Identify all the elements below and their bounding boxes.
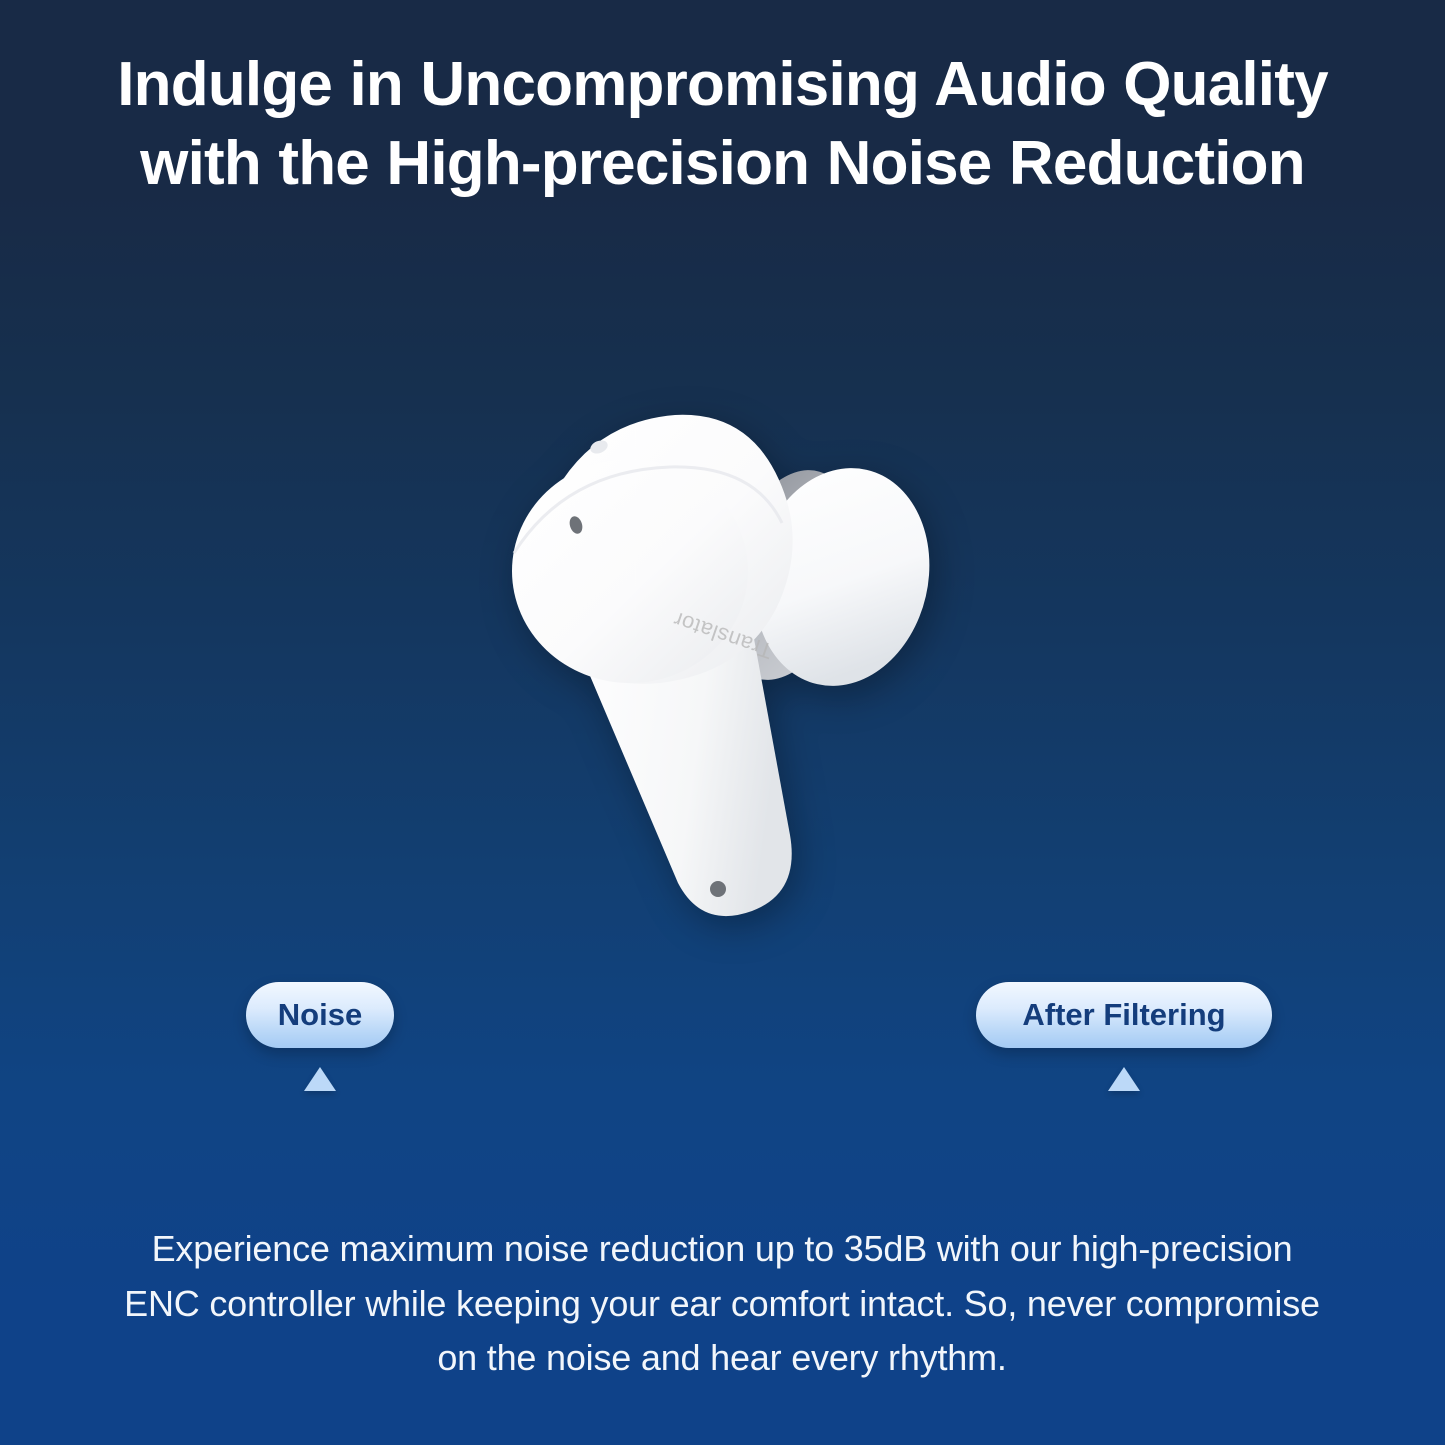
- waveform-bar: [1030, 563, 1039, 607]
- waveform-bar: [2, 527, 11, 643]
- waveform-bar: [222, 473, 231, 697]
- waveform-bar: [1206, 561, 1215, 609]
- waveform-bar: [68, 363, 77, 807]
- headline-line-1: Indulge in Uncompromising Audio Quality: [0, 46, 1445, 125]
- waveform-bar: [1008, 559, 1017, 611]
- label-noise[interactable]: Noise: [246, 982, 394, 1048]
- waveform-bar: [1118, 525, 1127, 645]
- noise-pointer-icon: [304, 1067, 336, 1091]
- waveform-bar: [178, 413, 187, 757]
- promo-banner: Indulge in Uncompromising Audio Quality …: [0, 0, 1445, 1445]
- waveform-bar: [112, 291, 121, 879]
- waveform-bar: [90, 317, 99, 853]
- label-noise-text: Noise: [278, 997, 362, 1033]
- waveform-bar: [1162, 539, 1171, 631]
- label-after-filtering[interactable]: After Filtering: [976, 982, 1272, 1048]
- waveform-bar: [1316, 563, 1325, 607]
- waveform-bar: [200, 455, 209, 715]
- earbud-product-image: Translator: [470, 395, 990, 975]
- waveform-bar: [24, 483, 33, 687]
- waveform-bar: [156, 373, 165, 797]
- waveform-bar: [1426, 569, 1435, 601]
- waveform-bar: [1096, 535, 1105, 635]
- label-after-filtering-text: After Filtering: [1022, 997, 1225, 1033]
- headline-line-2: with the High-precision Noise Reduction: [0, 125, 1445, 204]
- waveform-bar: [1184, 551, 1193, 619]
- waveform-bar: [1404, 565, 1413, 605]
- waveform-bar: [1074, 541, 1083, 629]
- waveform-bar: [1360, 553, 1369, 617]
- waveform-bar: [1250, 565, 1259, 605]
- after-filtering-pointer-icon: [1108, 1067, 1140, 1091]
- waveform-bar: [420, 511, 429, 659]
- waveform-bar: [398, 489, 407, 681]
- waveform-bar: [134, 331, 143, 839]
- waveform-bar: [46, 417, 55, 753]
- lower-mic-hole: [710, 881, 726, 897]
- waveform-bar: [1228, 563, 1237, 607]
- waveform-bar: [1272, 563, 1281, 607]
- waveform-bar: [1052, 555, 1061, 615]
- waveform-bar: [1140, 529, 1149, 641]
- waveform-bar: [1338, 559, 1347, 611]
- waveform-bar: [288, 537, 297, 633]
- waveform-bar: [310, 501, 319, 669]
- page-title: Indulge in Uncompromising Audio Quality …: [0, 46, 1445, 203]
- waveform-bar: [442, 545, 451, 625]
- waveform-bar: [1294, 567, 1303, 603]
- waveform-bar: [376, 457, 385, 713]
- description-paragraph: Experience maximum noise reduction up to…: [122, 1222, 1322, 1386]
- waveform-bar: [244, 497, 253, 673]
- waveform-bar: [266, 517, 275, 653]
- waveform-bar: [1382, 563, 1391, 607]
- waveform-bar: [332, 519, 341, 651]
- waveform-bar: [354, 475, 363, 695]
